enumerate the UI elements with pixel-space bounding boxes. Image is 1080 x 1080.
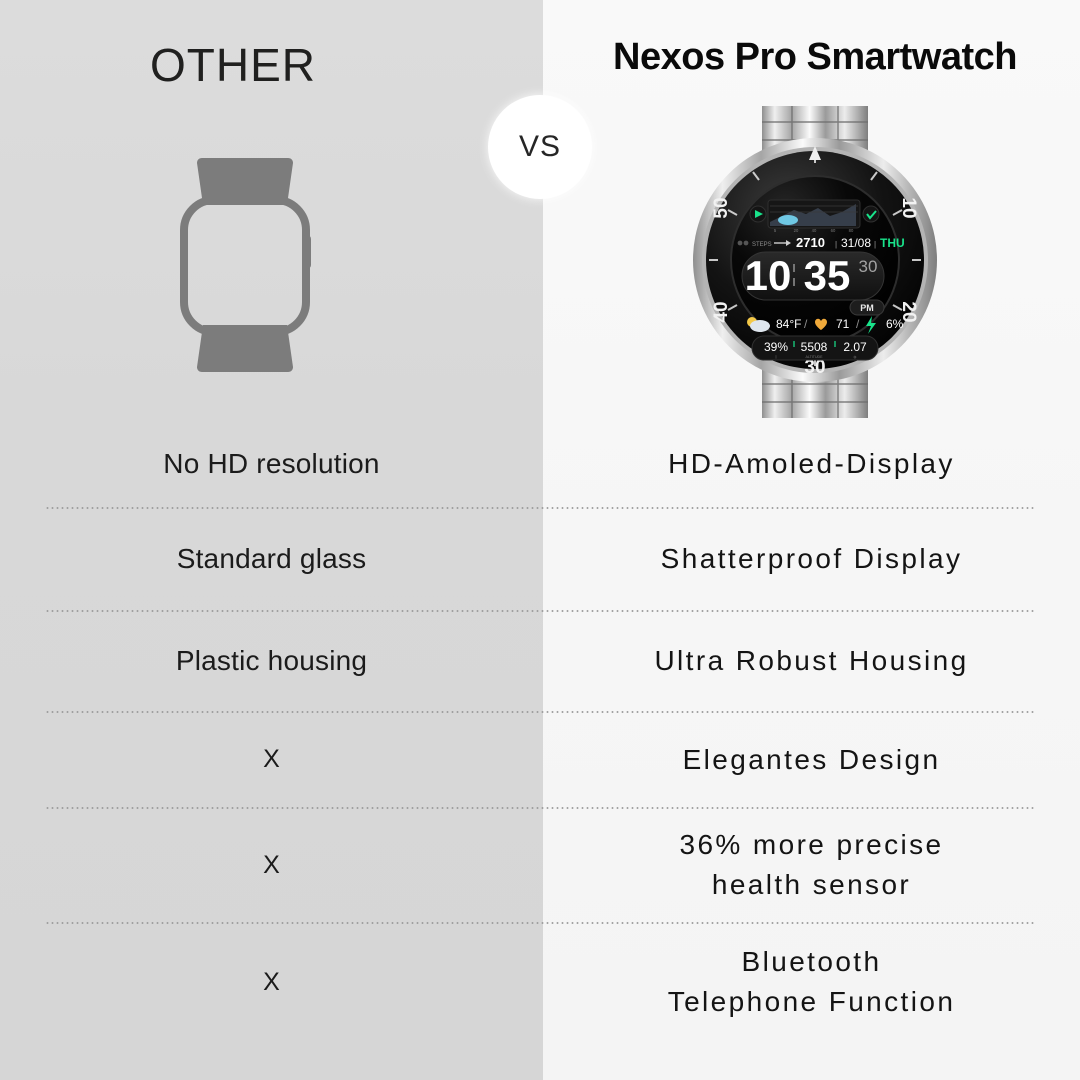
nexos-cell: Elegantes Design bbox=[543, 712, 1080, 807]
svg-text:STEPS: STEPS bbox=[752, 242, 772, 248]
svg-text:THU: THU bbox=[880, 236, 905, 250]
comparison-infographic: OTHER Nexos Pro Smartwatch VS bbox=[0, 0, 1080, 1080]
other-cell: Plastic housing bbox=[0, 611, 543, 711]
other-cell: No HD resolution bbox=[0, 420, 543, 508]
svg-text:71: 71 bbox=[836, 317, 850, 331]
svg-text:39%: 39% bbox=[764, 340, 788, 354]
other-cell-mark: X bbox=[0, 712, 543, 807]
nexos-pro-watch-image: 10 20 30 40 50 52040 6080 STEPS 2710 bbox=[690, 100, 940, 420]
versus-badge: VS bbox=[488, 95, 592, 199]
page-title-product: Nexos Pro Smartwatch bbox=[560, 36, 1070, 79]
table-row: X Elegantes Design bbox=[0, 712, 1080, 807]
comparison-table: No HD resolution HD-Amoled-Display Stand… bbox=[0, 420, 1080, 1041]
table-row: Plastic housing Ultra Robust Housing bbox=[0, 611, 1080, 711]
svg-text:PM: PM bbox=[860, 303, 874, 313]
svg-text:10: 10 bbox=[898, 197, 919, 218]
svg-text:2710: 2710 bbox=[796, 235, 825, 250]
svg-text:6%: 6% bbox=[886, 317, 904, 331]
nexos-cell: Ultra Robust Housing bbox=[543, 611, 1080, 711]
svg-text:31/08: 31/08 bbox=[841, 236, 871, 250]
other-watch-silhouette bbox=[150, 140, 340, 390]
nexos-cell: Shatterproof Display bbox=[543, 508, 1080, 610]
svg-text:20: 20 bbox=[794, 228, 799, 233]
svg-text:5508: 5508 bbox=[801, 340, 828, 354]
svg-text:84°F: 84°F bbox=[776, 317, 801, 331]
svg-text:40: 40 bbox=[711, 301, 732, 322]
svg-text:40: 40 bbox=[812, 228, 817, 233]
other-cell: Standard glass bbox=[0, 508, 543, 610]
nexos-cell: BluetoothTelephone Function bbox=[543, 923, 1080, 1041]
table-row: X 36% more precisehealth sensor bbox=[0, 808, 1080, 922]
svg-text:80: 80 bbox=[849, 228, 854, 233]
page-title-other: OTHER bbox=[0, 38, 466, 92]
table-row: X BluetoothTelephone Function bbox=[0, 923, 1080, 1041]
svg-text:|: | bbox=[874, 240, 876, 249]
svg-text:2.07: 2.07 bbox=[843, 340, 867, 354]
other-cell-mark: X bbox=[0, 923, 543, 1041]
svg-text:35: 35 bbox=[804, 252, 851, 299]
svg-text:60: 60 bbox=[831, 228, 836, 233]
svg-text:50: 50 bbox=[711, 197, 732, 218]
svg-text:▯: ▯ bbox=[775, 355, 777, 359]
table-row: No HD resolution HD-Amoled-Display bbox=[0, 420, 1080, 508]
versus-label: VS bbox=[519, 130, 561, 164]
svg-text:30: 30 bbox=[859, 257, 878, 276]
svg-text:ALTITUDE: ALTITUDE bbox=[805, 355, 823, 359]
other-cell-mark: X bbox=[0, 808, 543, 922]
table-row: Standard glass Shatterproof Display bbox=[0, 508, 1080, 610]
svg-text:10: 10 bbox=[745, 252, 792, 299]
svg-text:|: | bbox=[835, 240, 837, 249]
nexos-cell: 36% more precisehealth sensor bbox=[543, 808, 1080, 922]
nexos-cell: HD-Amoled-Display bbox=[543, 420, 1080, 508]
